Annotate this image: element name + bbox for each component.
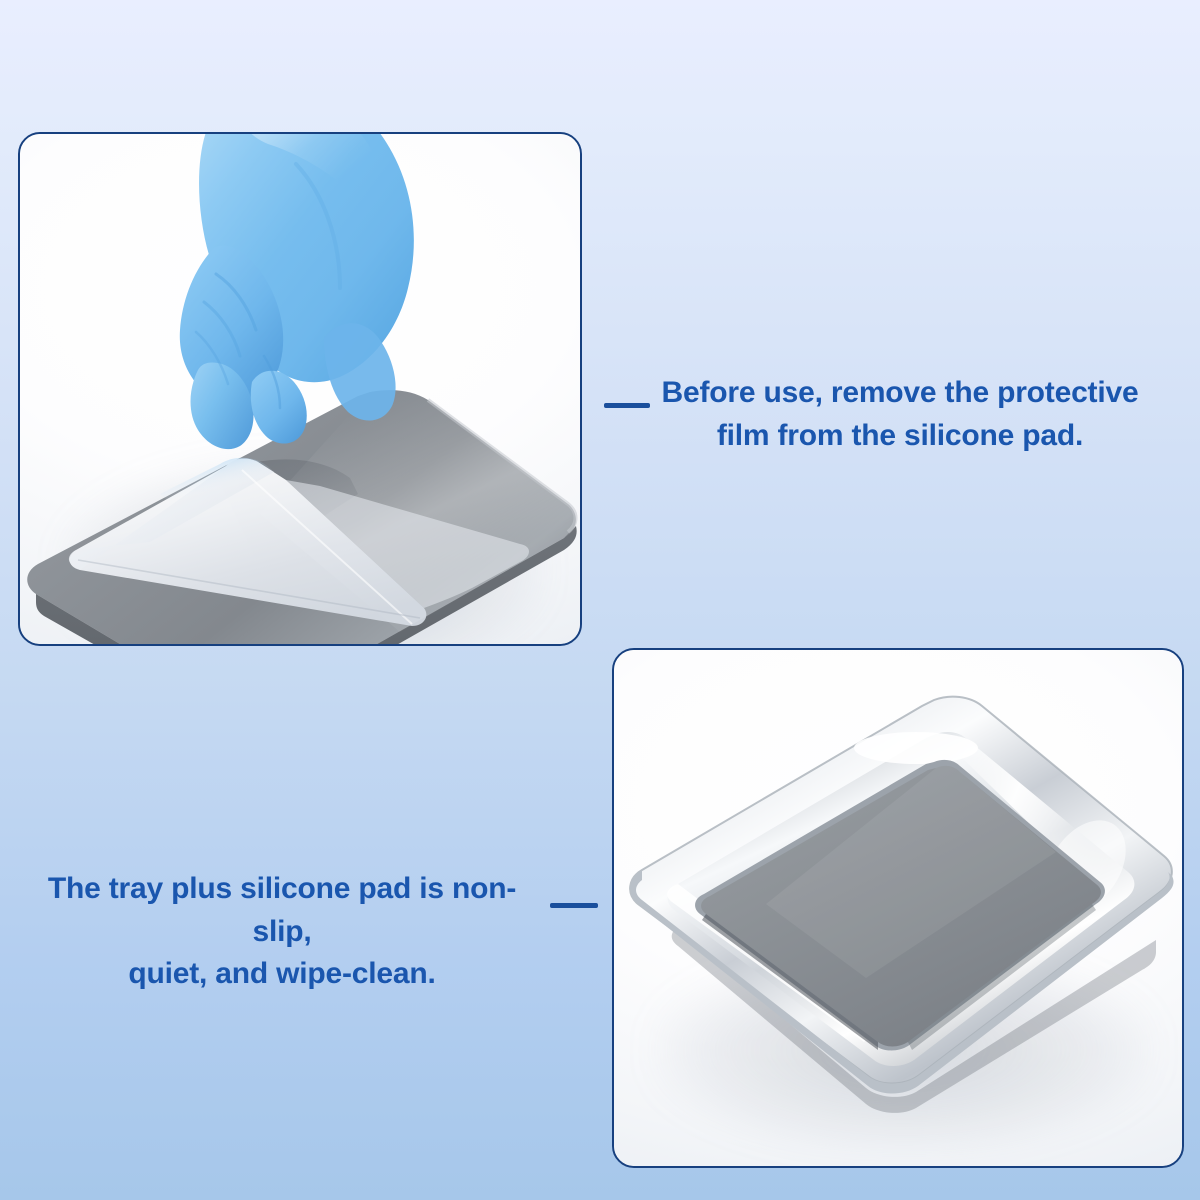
- caption-film-peel: Before use, remove the protective film f…: [640, 372, 1160, 457]
- photo-card-tray: [612, 648, 1184, 1168]
- caption-film-line-2: film from the silicone pad.: [717, 419, 1083, 452]
- stainless-tray-graphic: [616, 690, 1182, 1140]
- photo-film-peel: [20, 134, 580, 644]
- caption-film-line-1: Before use, remove the protective: [662, 376, 1139, 409]
- leader-line-tray: [550, 903, 598, 908]
- gloved-hand-graphic: [128, 134, 448, 524]
- caption-tray-line-1: The tray plus silicone pad is non-slip,: [48, 872, 516, 948]
- caption-tray-line-2: quiet, and wipe-clean.: [128, 957, 435, 990]
- infographic-stage: Before use, remove the protective film f…: [0, 0, 1200, 1200]
- photo-tray: [614, 650, 1182, 1166]
- photo-card-film-peel: [18, 132, 582, 646]
- caption-tray: The tray plus silicone pad is non-slip, …: [20, 868, 544, 996]
